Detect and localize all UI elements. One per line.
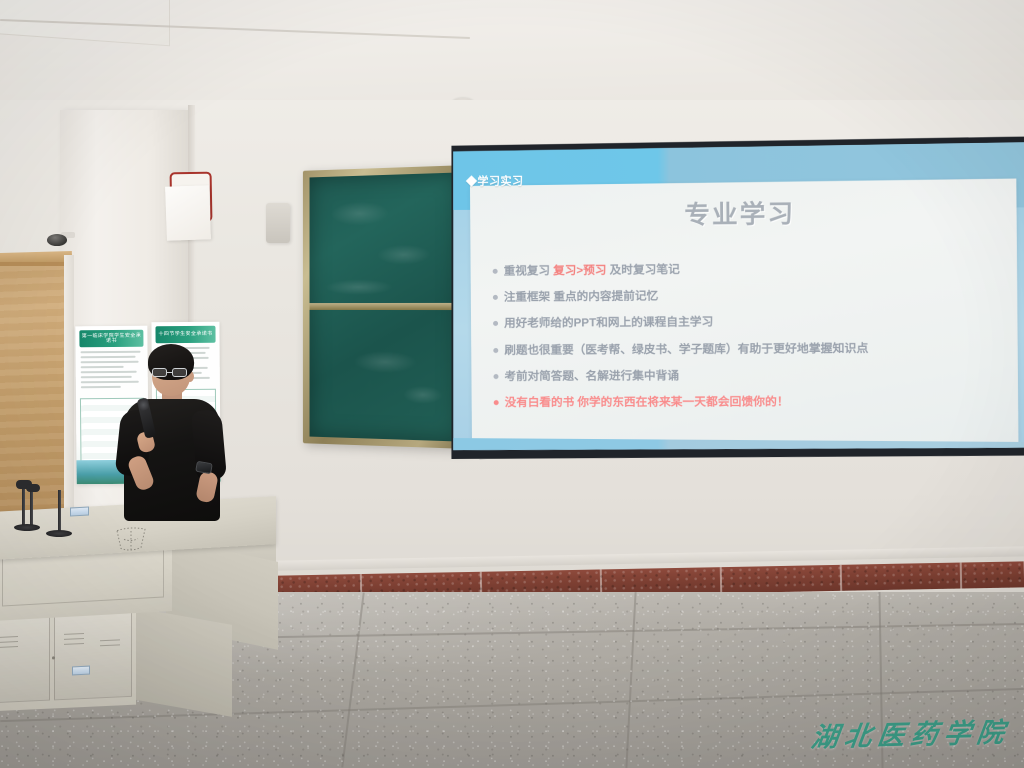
watermark: 湖北医药学院 xyxy=(809,710,1013,754)
slide-bullet: 用好老师给的PPT和网上的课程自主学习 xyxy=(493,315,1011,332)
lectern-base-side xyxy=(132,607,232,717)
slide-title: 专业学习 xyxy=(470,191,1017,234)
lectern-asset-tag-lower xyxy=(72,666,90,676)
slide-section-tag: ◆学习实习 xyxy=(466,173,524,189)
presenter xyxy=(110,344,230,519)
bullet-dot-icon xyxy=(494,400,499,405)
slide-bullet-text: 刷题也很重要（医考帮、绿皮书、学子题库）有助于更好地掌握知识点 xyxy=(504,343,868,358)
wall-speaker-box xyxy=(266,203,290,243)
slide-bullet-text: 注重框架 重点的内容提前记忆 xyxy=(504,291,658,306)
slide-bullet: 刷题也很重要（医考帮、绿皮书、学子题库）有助于更好地掌握知识点 xyxy=(493,342,1011,358)
dome-camera-icon xyxy=(47,232,73,247)
lectern xyxy=(0,498,294,708)
slide-bullet-text: 用好老师给的PPT和网上的课程自主学习 xyxy=(504,317,713,332)
slide-bullet-text: 重视复习 复习>预习 及时复习笔记 xyxy=(504,264,680,279)
bullet-dot-icon xyxy=(493,295,498,300)
chalkboard-divider xyxy=(310,303,460,310)
bullet-dot-icon xyxy=(493,321,498,326)
slide-bullet: 重视复习 复习>预习 及时复习笔记 xyxy=(493,261,1011,279)
projection-screen: ◆学习实习 专业学习 重视复习 复习>预习 及时复习笔记注重框架 重点的内容提前… xyxy=(448,136,1024,463)
bullet-dot-icon xyxy=(493,374,498,379)
slide-content-panel: 专业学习 重视复习 复习>预习 及时复习笔记注重框架 重点的内容提前记忆用好老师… xyxy=(470,179,1018,445)
lectern-asset-tag xyxy=(70,507,89,517)
slide-bullet: 考前对简答题、名解进行集中背诵 xyxy=(493,369,1011,384)
green-chalkboard xyxy=(303,165,467,449)
classroom-scene: 第一临床学院学生安全承诺书 十四节学生安全承诺书 xyxy=(0,0,1024,768)
glasses-icon xyxy=(152,368,192,377)
slide-bullet-list: 重视复习 复习>预习 及时复习笔记注重框架 重点的内容提前记忆用好老师给的PPT… xyxy=(493,261,1012,424)
poster-right-heading: 十四节学生安全承诺书 xyxy=(155,326,215,343)
dome-camera-lens xyxy=(47,234,67,246)
wall-sign-paper-cover xyxy=(165,185,211,241)
bullet-dot-icon xyxy=(493,348,498,353)
slide-bullet-highlight: 复习>预习 xyxy=(553,265,606,278)
slide-bullet-text: 考前对简答题、名解进行集中背诵 xyxy=(504,370,679,384)
wooden-door xyxy=(0,262,66,522)
slide-bullet: 注重框架 重点的内容提前记忆 xyxy=(493,288,1011,306)
slide-bullet-text: 没有白看的书 你学的东西在将来某一天都会回馈你的！ xyxy=(505,396,789,410)
bullet-dot-icon xyxy=(493,269,498,274)
speaker-grille-icon xyxy=(114,524,148,554)
slide-bullet: 没有白看的书 你学的东西在将来某一天都会回馈你的！ xyxy=(494,396,1012,411)
door-jamb xyxy=(64,255,74,525)
projected-slide: ◆学习实习 专业学习 重视复习 复习>预习 及时复习笔记注重框架 重点的内容提前… xyxy=(451,141,1024,456)
